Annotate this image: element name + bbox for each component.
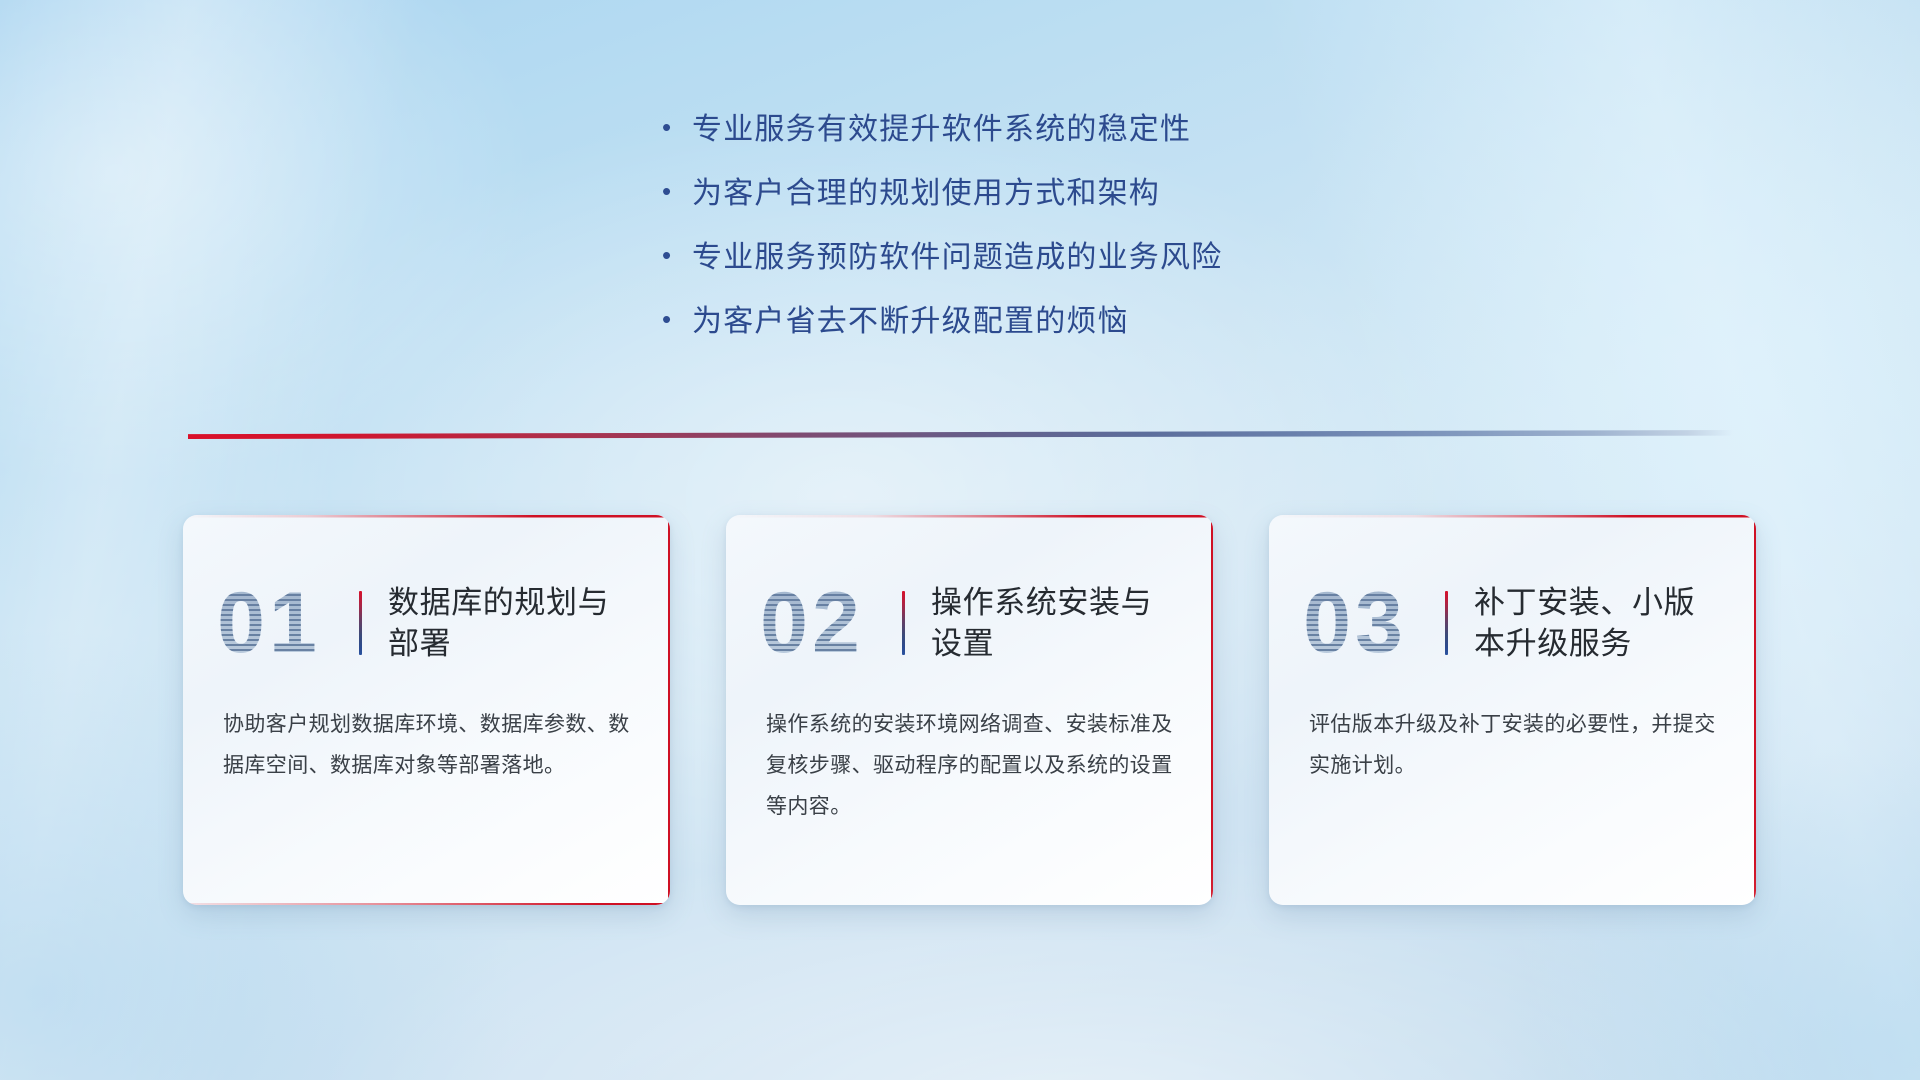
bullet-marker-icon: • [662, 242, 692, 268]
card-body-text: 评估版本升级及补丁安装的必要性，并提交实施计划。 [1269, 685, 1756, 787]
card-header: 03 补丁安装、小版本升级服务 [1269, 515, 1756, 685]
slide-stage: • 专业服务有效提升软件系统的稳定性 • 为客户合理的规划使用方式和架构 • 专… [0, 0, 1920, 1080]
card-number: 02 [726, 580, 898, 666]
list-item: • 专业服务有效提升软件系统的稳定性 [662, 112, 1422, 148]
card-title: 操作系统安装与设置 [931, 582, 1199, 664]
card-header: 02 操作系统安装与设置 [726, 515, 1213, 685]
service-card-03[interactable]: 03 补丁安装、小版本升级服务 评估版本升级及补丁安装的必要性，并提交实施计划。 [1269, 515, 1756, 905]
card-divider-bar [359, 591, 362, 655]
divider-gradient-bar [188, 430, 1733, 439]
card-divider-bar [902, 591, 905, 655]
card-body-text: 协助客户规划数据库环境、数据库参数、数据库空间、数据库对象等部署落地。 [183, 685, 670, 787]
card-number: 03 [1269, 580, 1441, 666]
bullet-marker-icon: • [662, 306, 692, 332]
bullet-text: 专业服务有效提升软件系统的稳定性 [692, 112, 1191, 148]
card-divider-bar [1445, 591, 1448, 655]
card-header: 01 数据库的规划与部署 [183, 515, 670, 685]
list-item: • 专业服务预防软件问题造成的业务风险 [662, 240, 1422, 276]
list-item: • 为客户省去不断升级配置的烦恼 [662, 304, 1422, 340]
service-card-02[interactable]: 02 操作系统安装与设置 操作系统的安装环境网络调查、安装标准及复核步骤、驱动程… [726, 515, 1213, 905]
section-divider [188, 430, 1733, 439]
card-number: 01 [183, 580, 355, 666]
bullet-marker-icon: • [662, 178, 692, 204]
bullet-text: 专业服务预防软件问题造成的业务风险 [692, 240, 1222, 276]
card-title: 数据库的规划与部署 [388, 582, 656, 664]
bullet-marker-icon: • [662, 114, 692, 140]
card-body-text: 操作系统的安装环境网络调查、安装标准及复核步骤、驱动程序的配置以及系统的设置等内… [726, 685, 1213, 828]
card-list: 01 数据库的规划与部署 协助客户规划数据库环境、数据库参数、数据库空间、数据库… [183, 515, 1756, 905]
card-title: 补丁安装、小版本升级服务 [1474, 582, 1742, 664]
bullet-text: 为客户合理的规划使用方式和架构 [692, 176, 1160, 212]
bullet-text: 为客户省去不断升级配置的烦恼 [692, 304, 1129, 340]
list-item: • 为客户合理的规划使用方式和架构 [662, 176, 1422, 212]
bullet-list: • 专业服务有效提升软件系统的稳定性 • 为客户合理的规划使用方式和架构 • 专… [662, 112, 1422, 340]
service-card-01[interactable]: 01 数据库的规划与部署 协助客户规划数据库环境、数据库参数、数据库空间、数据库… [183, 515, 670, 905]
